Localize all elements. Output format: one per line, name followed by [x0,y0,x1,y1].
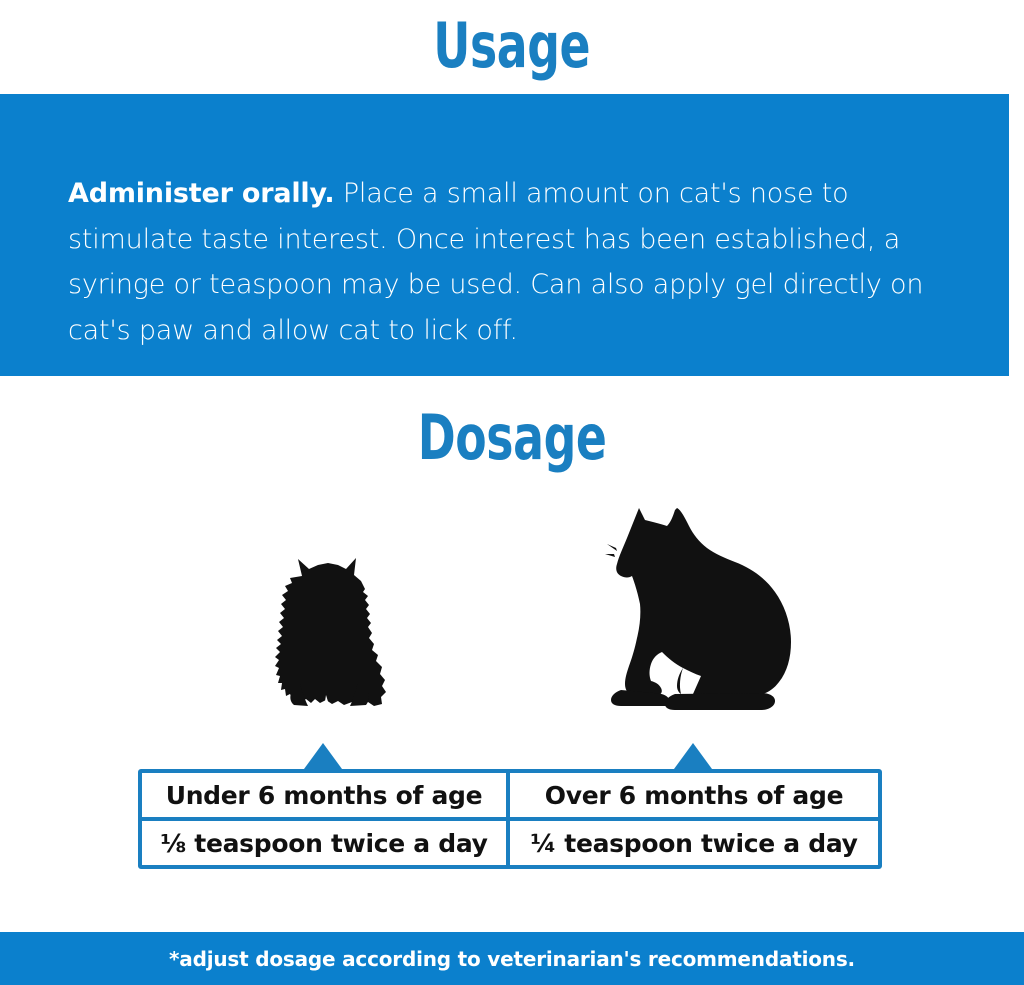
usage-section-heading: Usage [0,0,1024,92]
usage-instructions-panel: Administer orally. Place a small amount … [0,94,1009,376]
dosage-table: Under 6 months of age Over 6 months of a… [138,769,882,869]
usage-heading-text: Usage [434,15,591,77]
kitten-silhouette-icon [268,556,394,711]
usage-instructions-text: Administer orally. Place a small amount … [68,171,968,353]
dosage-age-cell-under-6-months: Under 6 months of age [142,773,510,817]
footer-note-text: *adjust dosage according to veterinarian… [169,947,855,971]
adult-cat-silhouette-icon [605,508,797,713]
footer-note-bar: *adjust dosage according to veterinarian… [0,932,1024,985]
dosage-table-header-row: Under 6 months of age Over 6 months of a… [142,773,878,821]
dosage-heading-text: Dosage [418,407,607,469]
dosage-section-heading: Dosage [0,398,1024,478]
adult-cat-pointer-triangle-icon [674,743,712,769]
dosage-amount-cell-over-6-months: ¼ teaspoon twice a day [510,821,878,865]
dosage-age-cell-over-6-months: Over 6 months of age [510,773,878,817]
usage-instructions-lead: Administer orally. [68,178,334,209]
dosage-amount-cell-under-6-months: ⅛ teaspoon twice a day [142,821,510,865]
dosage-table-dose-row: ⅛ teaspoon twice a day ¼ teaspoon twice … [142,821,878,865]
kitten-pointer-triangle-icon [304,743,342,769]
